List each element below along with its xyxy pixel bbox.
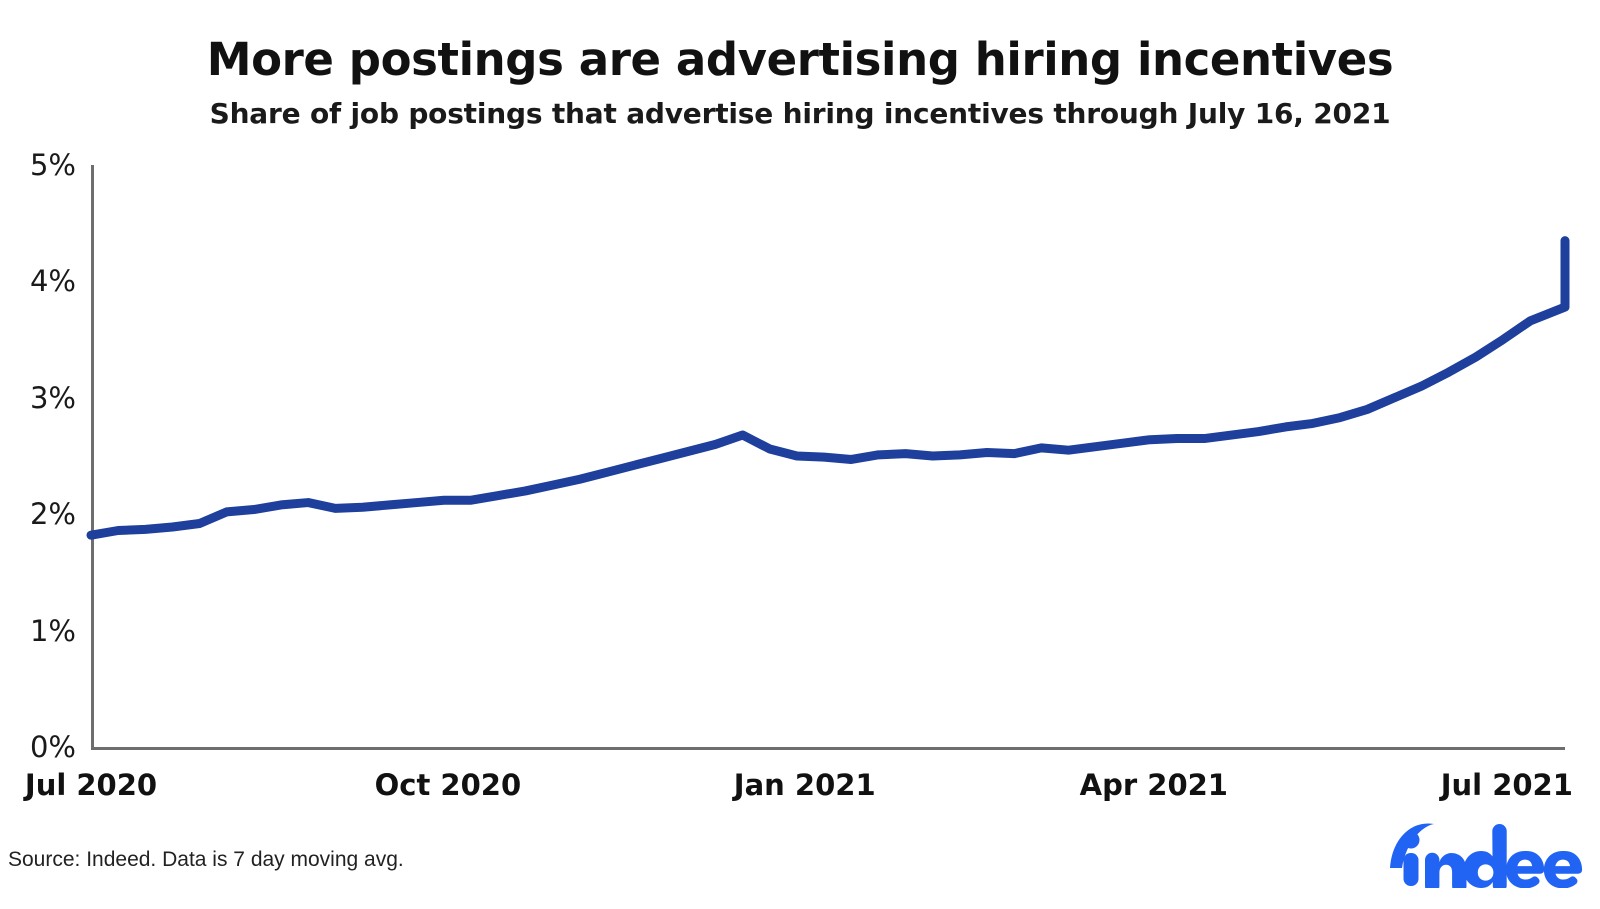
y-tick-label: 4% (0, 264, 76, 298)
x-tick-label: Apr 2021 (1080, 768, 1228, 802)
y-tick-label: 0% (0, 730, 76, 764)
indeed-letter-e-2 (1544, 851, 1582, 888)
y-tick-label: 2% (0, 497, 76, 531)
x-tick-label: Jul 2020 (25, 768, 157, 802)
y-tick-label: 5% (0, 148, 76, 182)
indeed-letter-n (1425, 853, 1467, 888)
line-series-path (91, 241, 1565, 535)
indeed-wordmark (1390, 823, 1586, 888)
y-tick-label: 3% (0, 381, 76, 415)
x-axis-line (91, 747, 1565, 750)
indeed-letter-i (1404, 853, 1419, 886)
chart-title: More postings are advertising hiring inc… (0, 36, 1600, 85)
plot-area (91, 165, 1565, 747)
x-tick-label: Jan 2021 (734, 768, 876, 802)
y-tick-label: 1% (0, 614, 76, 648)
chart-figure: More postings are advertising hiring inc… (0, 0, 1600, 909)
chart-subtitle: Share of job postings that advertise hir… (0, 97, 1600, 130)
x-tick-label: Jul 2021 (1441, 768, 1573, 802)
line-series-svg (91, 165, 1565, 747)
title-block: More postings are advertising hiring inc… (0, 36, 1600, 130)
x-tick-label: Oct 2020 (375, 768, 522, 802)
indeed-logo (1386, 812, 1586, 888)
indeed-dot-icon (1403, 832, 1420, 849)
indeed-letter-e-1 (1506, 851, 1544, 888)
source-note: Source: Indeed. Data is 7 day moving avg… (8, 848, 404, 872)
indeed-letter-d-1 (1464, 824, 1507, 888)
